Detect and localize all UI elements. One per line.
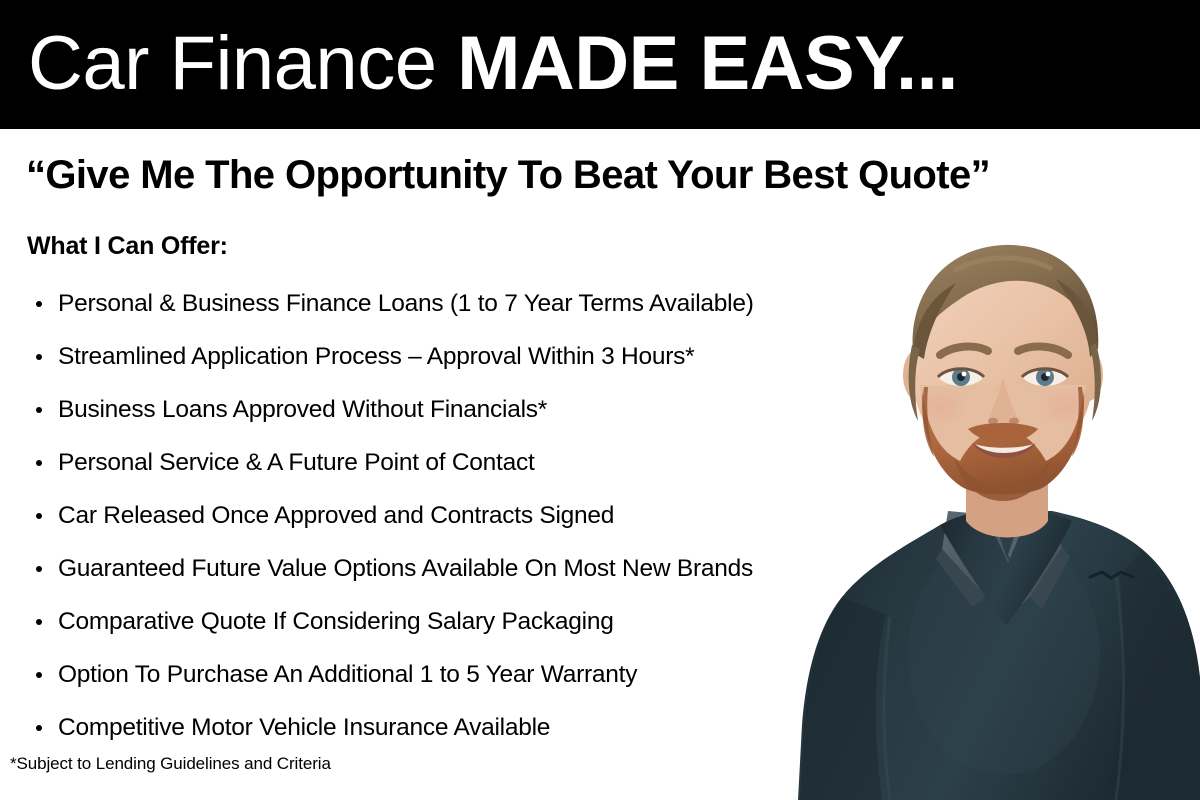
header-title: Car Finance MADE EASY... — [28, 17, 958, 111]
headline-quote: “Give Me The Opportunity To Beat Your Be… — [26, 150, 1176, 200]
list-item: Streamlined Application Process – Approv… — [0, 330, 880, 383]
list-item-label: Personal Service & A Future Point of Con… — [58, 449, 535, 476]
bullet-dot-icon — [36, 354, 42, 360]
header-title-bold: MADE EASY... — [457, 21, 958, 106]
bullet-dot-icon — [36, 672, 42, 678]
list-item-label: Option To Purchase An Additional 1 to 5 … — [58, 661, 637, 688]
offer-heading: What I Can Offer: — [27, 231, 228, 261]
list-item: Competitive Motor Vehicle Insurance Avai… — [0, 701, 880, 754]
bullet-dot-icon — [36, 407, 42, 413]
bullet-dot-icon — [36, 460, 42, 466]
header-banner: Car Finance MADE EASY... — [0, 0, 1200, 129]
cheek-left — [912, 387, 968, 427]
bullet-dot-icon — [36, 619, 42, 625]
footnote-disclaimer: *Subject to Lending Guidelines and Crite… — [10, 753, 331, 775]
bullet-dot-icon — [36, 725, 42, 731]
list-item: Personal Service & A Future Point of Con… — [0, 436, 880, 489]
bullet-dot-icon — [36, 566, 42, 572]
list-item: Guaranteed Future Value Options Availabl… — [0, 542, 880, 595]
header-title-light: Car Finance — [28, 21, 457, 106]
list-item: Comparative Quote If Considering Salary … — [0, 595, 880, 648]
list-item: Car Released Once Approved and Contracts… — [0, 489, 880, 542]
list-item-label: Streamlined Application Process – Approv… — [58, 343, 694, 370]
list-item-label: Business Loans Approved Without Financia… — [58, 396, 547, 423]
list-item-label: Personal & Business Finance Loans (1 to … — [58, 290, 754, 317]
offer-list: Personal & Business Finance Loans (1 to … — [0, 277, 880, 754]
list-item-label: Competitive Motor Vehicle Insurance Avai… — [58, 714, 550, 741]
list-item-label: Guaranteed Future Value Options Availabl… — [58, 555, 753, 582]
list-item-label: Comparative Quote If Considering Salary … — [58, 608, 614, 635]
list-item: Option To Purchase An Additional 1 to 5 … — [0, 648, 880, 701]
cheek-right — [1038, 387, 1094, 427]
bullet-dot-icon — [36, 301, 42, 307]
list-item: Business Loans Approved Without Financia… — [0, 383, 880, 436]
bullet-dot-icon — [36, 513, 42, 519]
poster-canvas: Car Finance MADE EASY... “Give Me The Op… — [0, 0, 1200, 800]
list-item-label: Car Released Once Approved and Contracts… — [58, 502, 614, 529]
list-item: Personal & Business Finance Loans (1 to … — [0, 277, 880, 330]
